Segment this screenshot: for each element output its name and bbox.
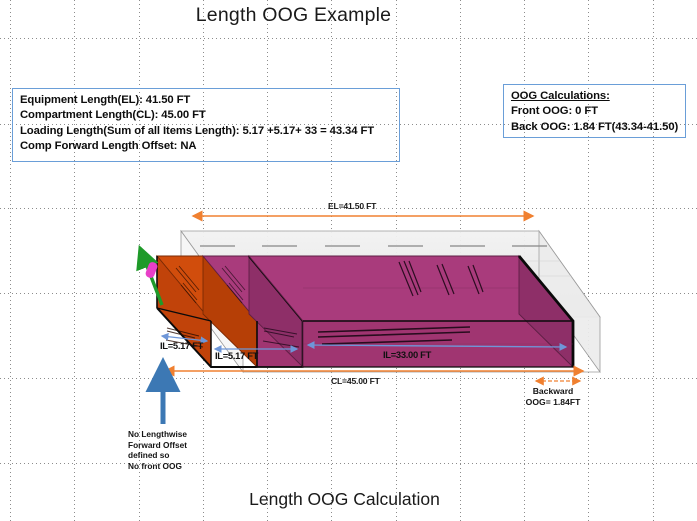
oog-front-line: Front OOG: 0 FT: [511, 104, 679, 119]
label-item-1-length: IL=5.17 FT: [160, 340, 203, 351]
note-line-3: defined so: [128, 450, 187, 461]
label-el: EL=41.50 FT: [328, 201, 376, 211]
inputs-line-3: Loading Length(Sum of all Items Length):…: [20, 124, 393, 139]
slide-canvas: Length OOG Example: [0, 0, 697, 521]
label-item-3-length: IL=33.00 FT: [383, 349, 431, 360]
oog-back-line: Back OOG: 1.84 FT(43.34-41.50): [511, 120, 679, 135]
note-line-4: No front OOG: [128, 461, 187, 472]
page-caption-text: Length OOG Calculation: [249, 489, 440, 510]
inputs-line-1: Equipment Length(EL): 41.50 FT: [20, 93, 393, 108]
oog-calculations-callout-box: OOG Calculations: Front OOG: 0 FT Back O…: [503, 84, 686, 138]
note-line-2: Forward Offset: [128, 440, 187, 451]
label-backward-oog-line1: Backward: [521, 386, 585, 397]
isometric-diagram: [0, 0, 697, 521]
oog-heading: OOG Calculations:: [511, 89, 679, 104]
note-no-front-oog: No Lengthwise Forward Offset defined so …: [128, 429, 187, 471]
inputs-callout-box: Equipment Length(EL): 41.50 FT Compartme…: [12, 88, 400, 162]
label-backward-oog-line2: OOG= 1.84FT: [521, 397, 585, 408]
label-item-2-length: IL=5.17 FT: [215, 350, 258, 361]
label-cl: CL=45.00 FT: [331, 376, 380, 386]
page-caption: Length OOG Calculation: [0, 489, 697, 510]
inputs-line-2: Compartment Length(CL): 45.00 FT: [20, 108, 393, 123]
label-backward-oog: Backward OOG= 1.84FT: [521, 386, 585, 408]
note-line-1: No Lengthwise: [128, 429, 187, 440]
inputs-line-4: Comp Forward Length Offset: NA: [20, 139, 393, 154]
